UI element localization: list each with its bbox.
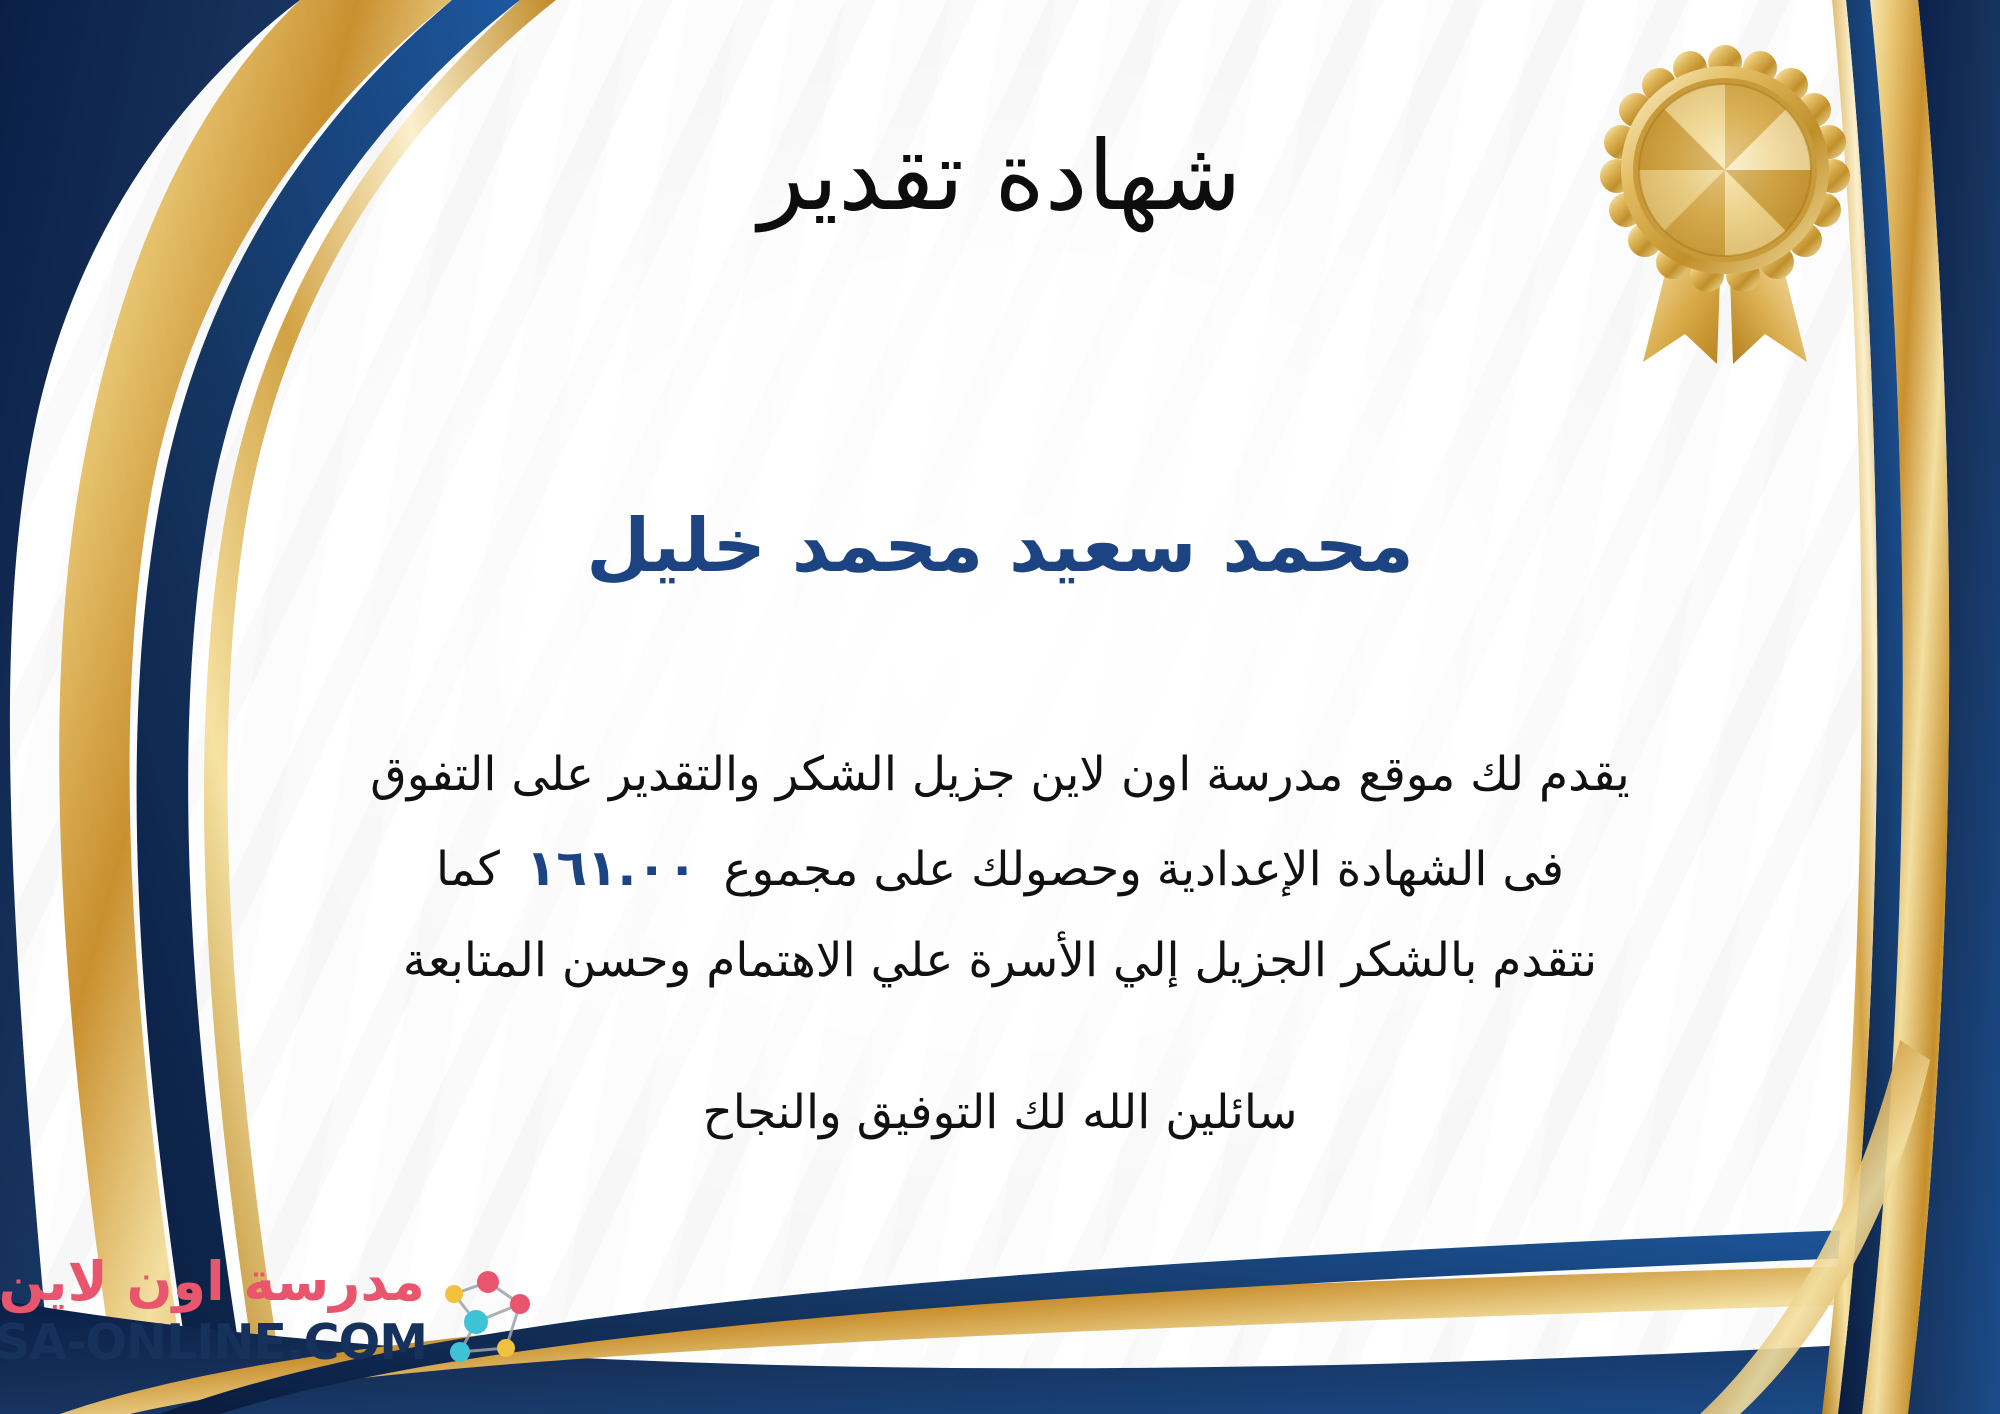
closing-line: سائلين الله لك التوفيق والنجاح xyxy=(0,1075,2000,1150)
certificate-page: شهادة تقدير محمد سعيد محمد خليل يقدم لك … xyxy=(0,0,2000,1414)
body-line-3: نتقدم بالشكر الجزيل إلي الأسرة علي الاهت… xyxy=(55,916,1945,1006)
body-line-2-prefix: فى الشهادة الإعدادية وحصولك على مجموع xyxy=(723,842,1564,897)
body-line-2-suffix: كما xyxy=(436,842,500,897)
brand-domain: MADRSA-ONLINE.COM xyxy=(0,1314,427,1371)
network-nodes-icon xyxy=(430,1264,542,1376)
brand-arabic-name: مدرسة اون لاين xyxy=(0,1250,425,1313)
page-title: شهادة تقدير xyxy=(0,118,2000,235)
body-line-1: يقدم لك موقع مدرسة اون لاين جزيل الشكر و… xyxy=(55,730,1945,820)
recipient-name: محمد سعيد محمد خليل xyxy=(0,500,2000,593)
score-value: ١٦١.٠٠ xyxy=(500,839,724,897)
brand-logo[interactable]: مدرسة اون لاين MADRSA-ONLINE.COM xyxy=(30,1248,550,1388)
certificate-content: شهادة تقدير محمد سعيد محمد خليل يقدم لك … xyxy=(0,0,2000,1414)
body-line-2: فى الشهادة الإعدادية وحصولك على مجموع١٦١… xyxy=(55,820,1945,916)
certificate-body: يقدم لك موقع مدرسة اون لاين جزيل الشكر و… xyxy=(55,730,1945,1006)
